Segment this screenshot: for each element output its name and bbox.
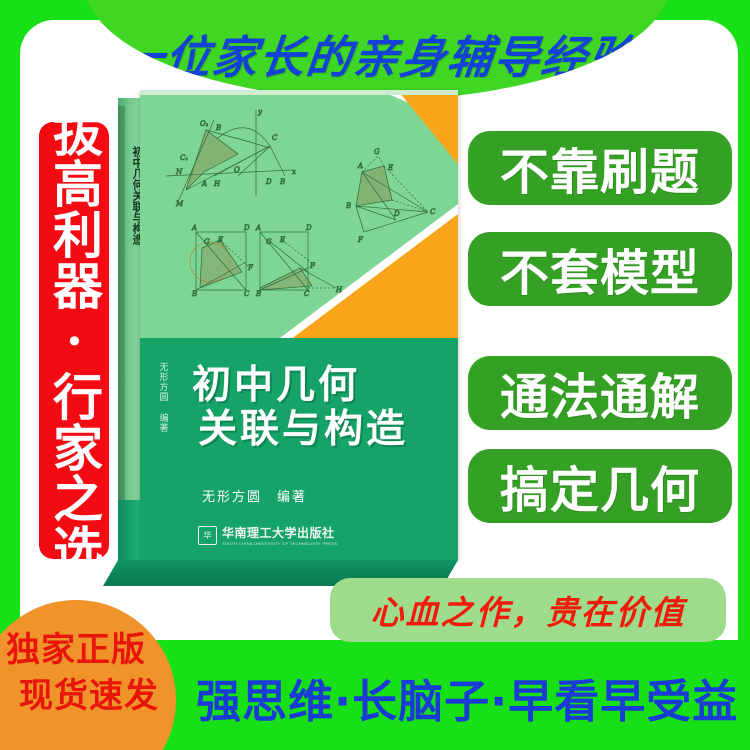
svg-text:E: E <box>279 236 285 244</box>
promo-poster: 一位家长的亲身辅导经验 拔高利器·行家之选 初中几何关联与构造 <box>0 0 750 750</box>
svg-text:N: N <box>175 168 183 176</box>
book-spine-bottom-band <box>118 500 142 560</box>
highlight-box-text: 心血之作，贵在价值 <box>371 586 686 634</box>
book-spine: 初中几何关联与构造 <box>118 98 142 560</box>
svg-text:D: D <box>393 210 400 218</box>
svg-text:A: A <box>201 180 207 188</box>
svg-text:C₁: C₁ <box>180 154 188 162</box>
svg-text:B: B <box>255 290 261 298</box>
feature-pill-1[interactable]: 不靠刷题 <box>468 131 732 205</box>
svg-text:A: A <box>357 162 363 170</box>
feature-pill-2-label: 不套模型 <box>500 234 700 305</box>
book-title-line2: 关联与构造 <box>192 408 442 452</box>
left-red-banner: 拔高利器·行家之选 <box>39 122 109 559</box>
left-red-banner-text: 拔高利器·行家之选 <box>48 107 100 575</box>
svg-text:G: G <box>266 238 272 246</box>
publisher-logo-icon: 华 <box>198 526 217 545</box>
svg-text:G: G <box>204 238 210 246</box>
svg-text:D: D <box>305 224 312 232</box>
svg-text:O: O <box>234 166 240 174</box>
feature-pill-3-label: 通法通解 <box>500 358 700 429</box>
svg-text:x: x <box>292 168 296 176</box>
svg-text:O₁: O₁ <box>200 120 209 128</box>
svg-text:y: y <box>257 108 263 116</box>
publisher-name-english: SOUTH CHINA UNIVERSITY OF TECHNOLOGY PRE… <box>222 541 337 546</box>
badge-line-2: 现货速发 <box>19 674 159 720</box>
svg-text:C: C <box>244 290 250 298</box>
svg-text:B: B <box>279 178 285 186</box>
svg-text:H: H <box>213 180 221 188</box>
cover-illustration-panel: O₁B CC₁ NO HD BA M xy <box>140 90 458 338</box>
svg-text:A: A <box>191 224 197 232</box>
book-spine-title: 初中几何关联与构造 <box>120 146 142 245</box>
feature-pill-4[interactable]: 搞定几何 <box>468 449 732 523</box>
svg-text:M: M <box>175 200 184 208</box>
feature-pill-2[interactable]: 不套模型 <box>468 232 732 306</box>
svg-text:C: C <box>304 290 310 298</box>
feature-pill-4-label: 搞定几何 <box>500 451 700 522</box>
svg-text:D: D <box>243 224 250 232</box>
svg-text:B: B <box>191 290 197 298</box>
cover-author-vertical: 无形方圆 编著 <box>156 362 170 433</box>
publisher-name: 华南理工大学出版社 <box>222 524 337 541</box>
svg-text:F: F <box>247 264 254 272</box>
svg-text:C: C <box>430 208 436 216</box>
svg-text:B: B <box>215 124 221 132</box>
svg-text:E: E <box>217 236 223 244</box>
book-author: 无形方圆 编著 <box>202 486 307 505</box>
feature-pill-1-label: 不靠刷题 <box>500 133 700 204</box>
svg-text:H: H <box>335 286 343 294</box>
svg-text:C: C <box>272 134 278 142</box>
book-title-line1: 初中几何 <box>192 363 360 408</box>
bottom-banner-text: 强思维·长脑子·早看早受益 <box>196 665 738 730</box>
top-banner: 一位家长的亲身辅导经验 <box>84 0 670 100</box>
svg-text:F: F <box>309 262 316 270</box>
svg-text:E: E <box>387 164 393 172</box>
svg-text:G: G <box>374 148 380 156</box>
svg-text:B: B <box>345 202 351 210</box>
book-title: 初中几何 关联与构造 <box>192 364 442 451</box>
feature-pill-3[interactable]: 通法通解 <box>468 356 732 430</box>
cover-title-panel: 无形方圆 编著 初中几何 关联与构造 无形方圆 编著 华 华南理工大学出版社 S… <box>140 338 458 560</box>
highlight-box: 心血之作，贵在价值 <box>330 578 726 642</box>
book-product-image[interactable]: 初中几何关联与构造 <box>118 90 458 568</box>
svg-text:D: D <box>265 178 272 186</box>
svg-text:F: F <box>357 236 364 244</box>
geometry-diagrams-icon: O₁B CC₁ NO HD BA M xy <box>140 90 458 338</box>
publisher-block: 华 华南理工大学出版社 SOUTH CHINA UNIVERSITY OF TE… <box>198 524 337 546</box>
book-front-cover: O₁B CC₁ NO HD BA M xy <box>140 90 458 560</box>
badge-line-1: 独家正版 <box>6 628 146 674</box>
top-banner-text: 一位家长的亲身辅导经验 <box>114 21 639 100</box>
svg-text:A: A <box>255 224 261 232</box>
